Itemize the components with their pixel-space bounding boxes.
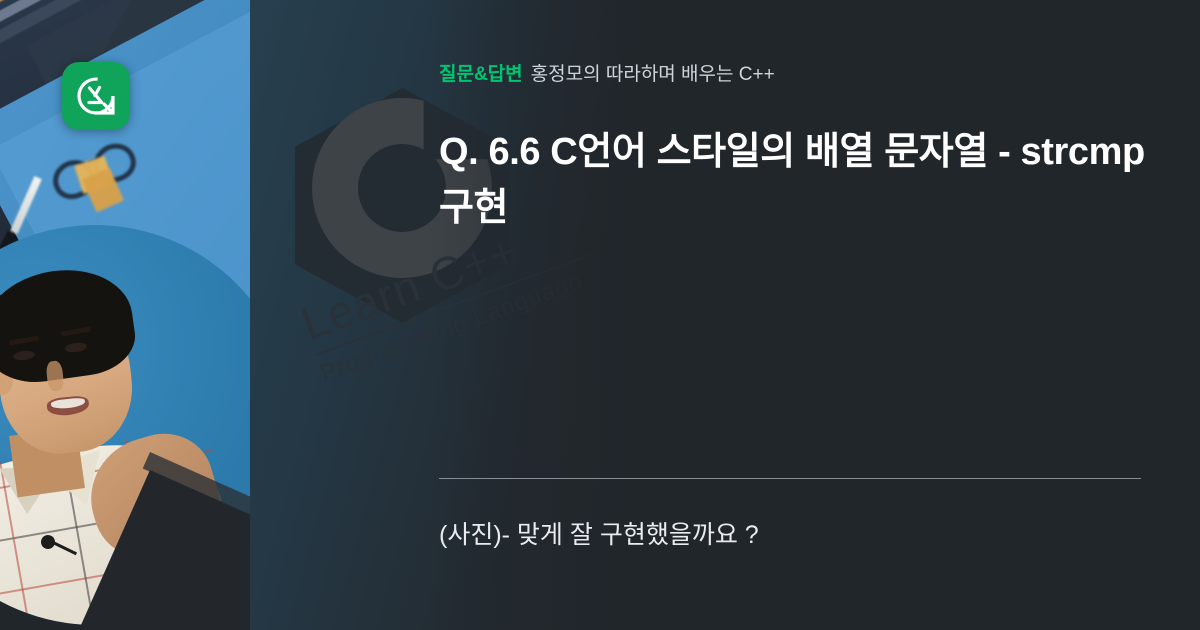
course-title: 홍정모의 따라하며 배우는 C++ — [531, 64, 775, 85]
inflearn-leaf-icon — [75, 75, 117, 117]
divider — [439, 478, 1141, 479]
breadcrumb: 질문&답변홍정모의 따라하며 배우는 C++ — [439, 62, 775, 88]
content-block: 질문&답변홍정모의 따라하며 배우는 C++ Q. 6.6 C언어 스타일의 배… — [439, 0, 1159, 630]
question-body: (사진)- 맞게 잘 구현했을까요 ? — [439, 516, 1145, 554]
share-card: Learn C++ Programming Language 질문&답변홍정모의… — [0, 0, 1200, 630]
inflearn-logo[interactable] — [62, 62, 130, 130]
page-title: Q. 6.6 C언어 스타일의 배열 문자열 - strcmp 구현 — [439, 124, 1145, 236]
category-label: 질문&답변 — [439, 64, 523, 85]
